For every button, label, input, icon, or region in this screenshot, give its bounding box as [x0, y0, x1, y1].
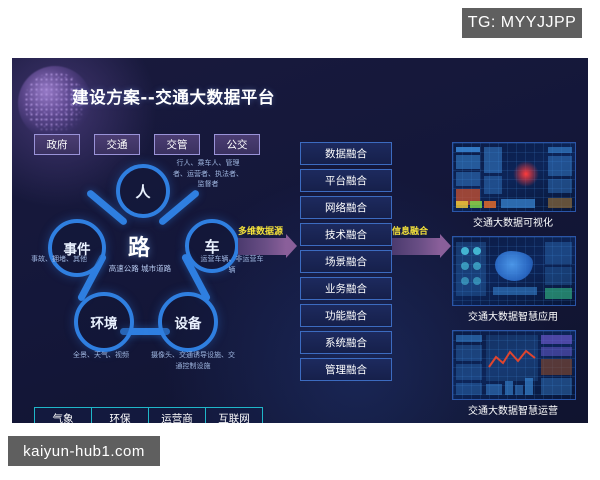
watermark-top: TG: MYYJJPP	[462, 8, 582, 38]
tag-environmental[interactable]: 环保	[91, 407, 148, 423]
fusion-item-data[interactable]: 数据融合	[300, 142, 392, 165]
watermark-bottom: kaiyun-hub1.com	[8, 436, 160, 466]
tag-operator[interactable]: 运营商	[148, 407, 205, 423]
fusion-item-platform[interactable]: 平台融合	[300, 169, 392, 192]
pentagon-center-road: 路 高速公路 城市道路	[102, 230, 178, 275]
fusion-item-scenario[interactable]: 场景融合	[300, 250, 392, 273]
pentagon-node-person[interactable]: 人	[116, 164, 170, 218]
caption-vehicle: 运营车辆、非运营车辆	[198, 254, 266, 275]
tag-traffic-mgmt[interactable]: 交管	[154, 134, 200, 155]
bottom-tag-row: 气象 环保 运营商 互联网	[34, 407, 263, 423]
dashboard-thumbnail-smart-application[interactable]	[452, 236, 576, 306]
fusion-item-business[interactable]: 业务融合	[300, 277, 392, 300]
fusion-list: 数据融合 平台融合 网络融合 技术融合 场景融合 业务融合 功能融合 系统融合 …	[300, 142, 392, 385]
top-tag-row: 政府 交通 交管 公交	[34, 134, 260, 155]
screenshot-root: TG: MYYJJPP 建设方案--交通大数据平台 政府 交通 交管 公交 人 …	[0, 0, 600, 480]
trend-line-icon	[487, 345, 537, 375]
center-road-label: 路	[102, 230, 178, 262]
caption-device: 摄像头、交通诱导设施、交通控制设施	[148, 350, 238, 371]
fusion-item-function[interactable]: 功能融合	[300, 304, 392, 327]
caption-environment: 全景、天气、视频	[58, 350, 144, 361]
dashboard-caption-smart-operation: 交通大数据智慧运营	[452, 402, 574, 417]
center-road-caption: 高速公路 城市道路	[102, 264, 178, 275]
arrow-label-multisource: 多维数据源	[238, 224, 283, 237]
fusion-item-system[interactable]: 系统融合	[300, 331, 392, 354]
slide-canvas: 建设方案--交通大数据平台 政府 交通 交管 公交 人 车 设备 环境 事件 路…	[12, 58, 588, 423]
pentagon-diagram: 人 车 设备 环境 事件 路 高速公路 城市道路 行人、乘车人、管理者、运营者、…	[30, 162, 260, 402]
dashboard-thumbnail-visualization[interactable]	[452, 142, 576, 212]
pentagon-node-device[interactable]: 设备	[158, 292, 218, 352]
caption-person: 行人、乘车人、管理者、运营者、执法者、监督者	[170, 158, 246, 190]
fusion-item-technology[interactable]: 技术融合	[300, 223, 392, 246]
dashboard-thumbnail-smart-operation[interactable]	[452, 330, 576, 400]
caption-event: 事故、拥堵、其他	[30, 254, 88, 265]
arrow-label-info-fusion: 信息融合	[392, 224, 428, 237]
tag-transport[interactable]: 交通	[94, 134, 140, 155]
tag-government[interactable]: 政府	[34, 134, 80, 155]
arrow-info-fusion-icon	[392, 238, 440, 255]
fusion-item-network[interactable]: 网络融合	[300, 196, 392, 219]
tag-meteorology[interactable]: 气象	[34, 407, 91, 423]
arrow-multisource-icon	[238, 238, 286, 255]
fusion-item-management[interactable]: 管理融合	[300, 358, 392, 381]
tag-internet[interactable]: 互联网	[205, 407, 263, 423]
dashboard-previews: 交通大数据可视化 交通大数据智慧应用	[452, 142, 574, 423]
dashboard-caption-visualization: 交通大数据可视化	[452, 214, 574, 229]
pentagon-node-environment[interactable]: 环境	[74, 292, 134, 352]
dashboard-caption-smart-application: 交通大数据智慧应用	[452, 308, 574, 323]
tag-public-transit[interactable]: 公交	[214, 134, 260, 155]
pentagon-node-event[interactable]: 事件	[48, 219, 106, 277]
page-title: 建设方案--交通大数据平台	[72, 84, 275, 108]
